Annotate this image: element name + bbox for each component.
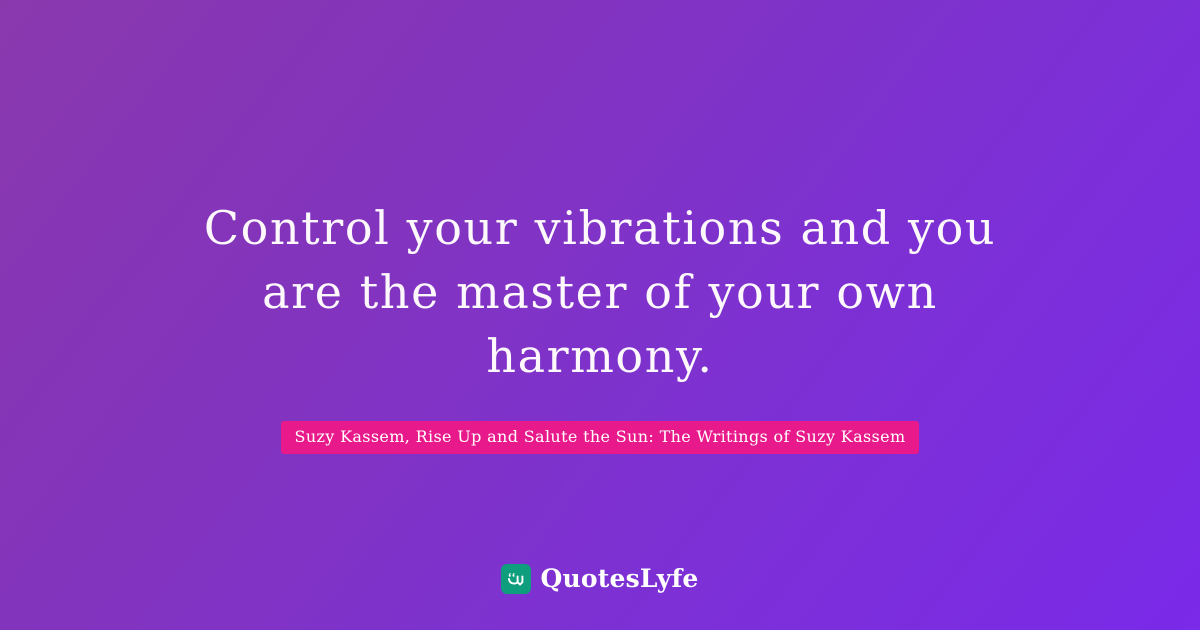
quote-card: Control your vibrations and you are the … — [0, 0, 1200, 630]
attribution-badge: Suzy Kassem, Rise Up and Salute the Sun:… — [281, 421, 920, 454]
quote-text: Control your vibrations and you are the … — [160, 196, 1040, 388]
quote-body: Control your vibrations and you are the … — [0, 196, 1200, 454]
attribution-container: Suzy Kassem, Rise Up and Salute the Sun:… — [0, 421, 1200, 454]
brand-logo[interactable]: QuotesLyfe — [0, 564, 1200, 594]
brand-wordmark: QuotesLyfe — [540, 564, 698, 594]
quote-smiley-icon — [501, 564, 531, 594]
